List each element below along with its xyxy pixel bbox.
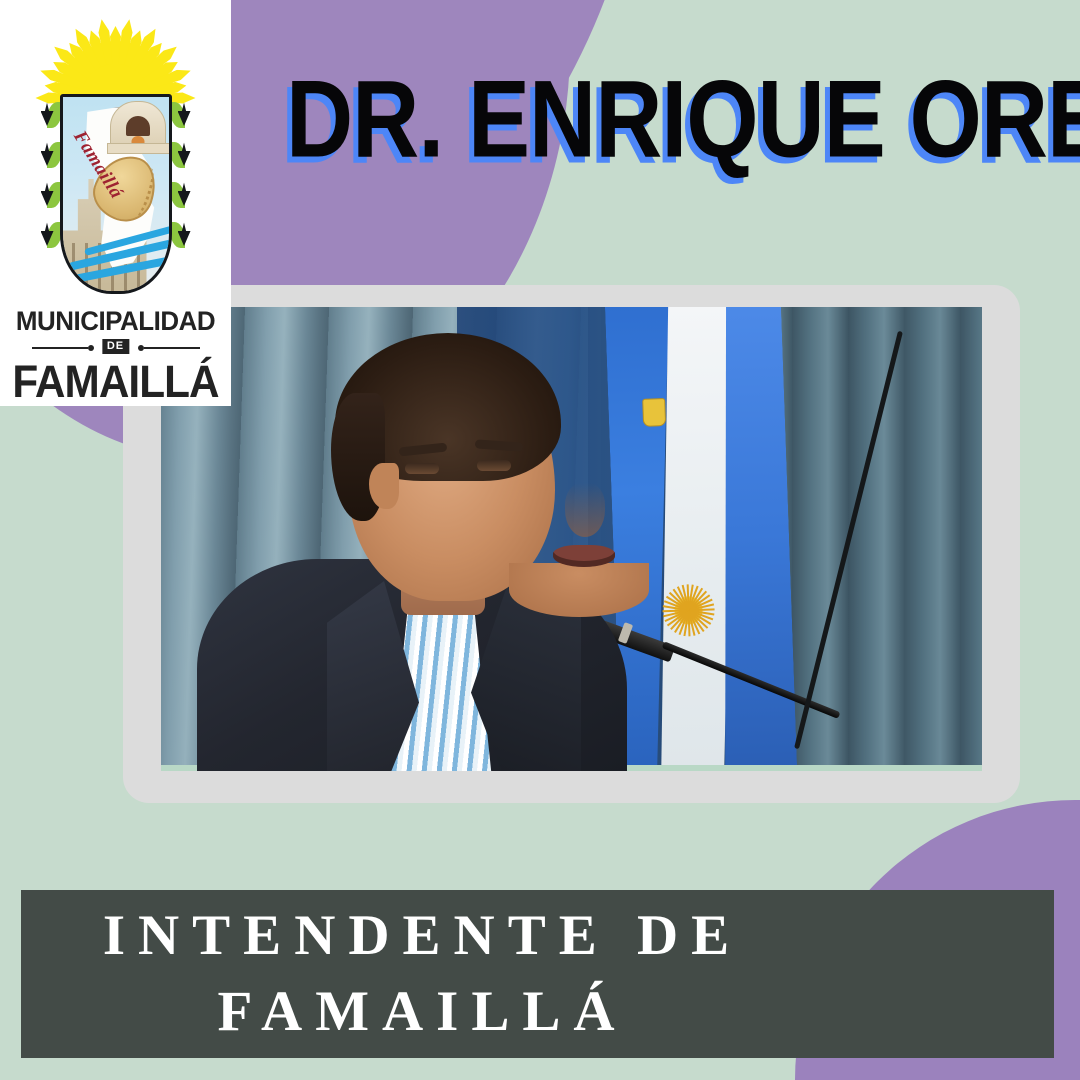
flag-pole-crest-icon xyxy=(642,398,666,427)
divider-dot-left xyxy=(88,345,94,351)
shield-face: Famaillá xyxy=(60,94,172,294)
speaker-chin xyxy=(509,563,649,617)
logo-wordmark: MUNICIPALIDAD DE FAMAILLÁ xyxy=(0,306,231,406)
speaker-portrait xyxy=(223,341,643,771)
municipality-logo-card: Famaillá MUNICIPALIDAD DE FAMAILLÁ xyxy=(0,0,231,406)
oven-base xyxy=(107,143,171,154)
portrait-photo xyxy=(161,307,982,771)
divider-line-right xyxy=(144,347,200,349)
clay-oven-icon xyxy=(110,101,166,149)
coat-of-arms-shield: Famaillá xyxy=(41,92,191,298)
role-banner-line-2: FAMAILLÁ xyxy=(217,974,627,1050)
logo-word-de: DE xyxy=(102,339,129,354)
speaker-eye-left xyxy=(405,463,439,474)
speaker-nose xyxy=(565,483,605,537)
poster-canvas: DR. ENRIQUE ORELLANA xyxy=(0,0,1080,1080)
logo-line-municipalidad: MUNICIPALIDAD xyxy=(5,306,227,337)
oven-mouth xyxy=(126,116,150,136)
photo-frame xyxy=(123,285,1020,803)
page-title: DR. ENRIQUE ORELLANA xyxy=(286,62,1066,175)
sun-icon xyxy=(24,14,208,100)
role-banner: INTENDENTE DE FAMAILLÁ xyxy=(21,890,1054,1058)
divider-line-left xyxy=(32,347,88,349)
speaker-eye-right xyxy=(477,460,511,471)
logo-divider: DE xyxy=(30,339,202,357)
speaker-mouth xyxy=(553,545,615,567)
river-icon xyxy=(60,219,172,277)
speaker-ear xyxy=(369,463,399,509)
logo-line-famailla: FAMAILLÁ xyxy=(7,358,224,406)
role-banner-line-1: INTENDENTE DE xyxy=(103,898,742,974)
